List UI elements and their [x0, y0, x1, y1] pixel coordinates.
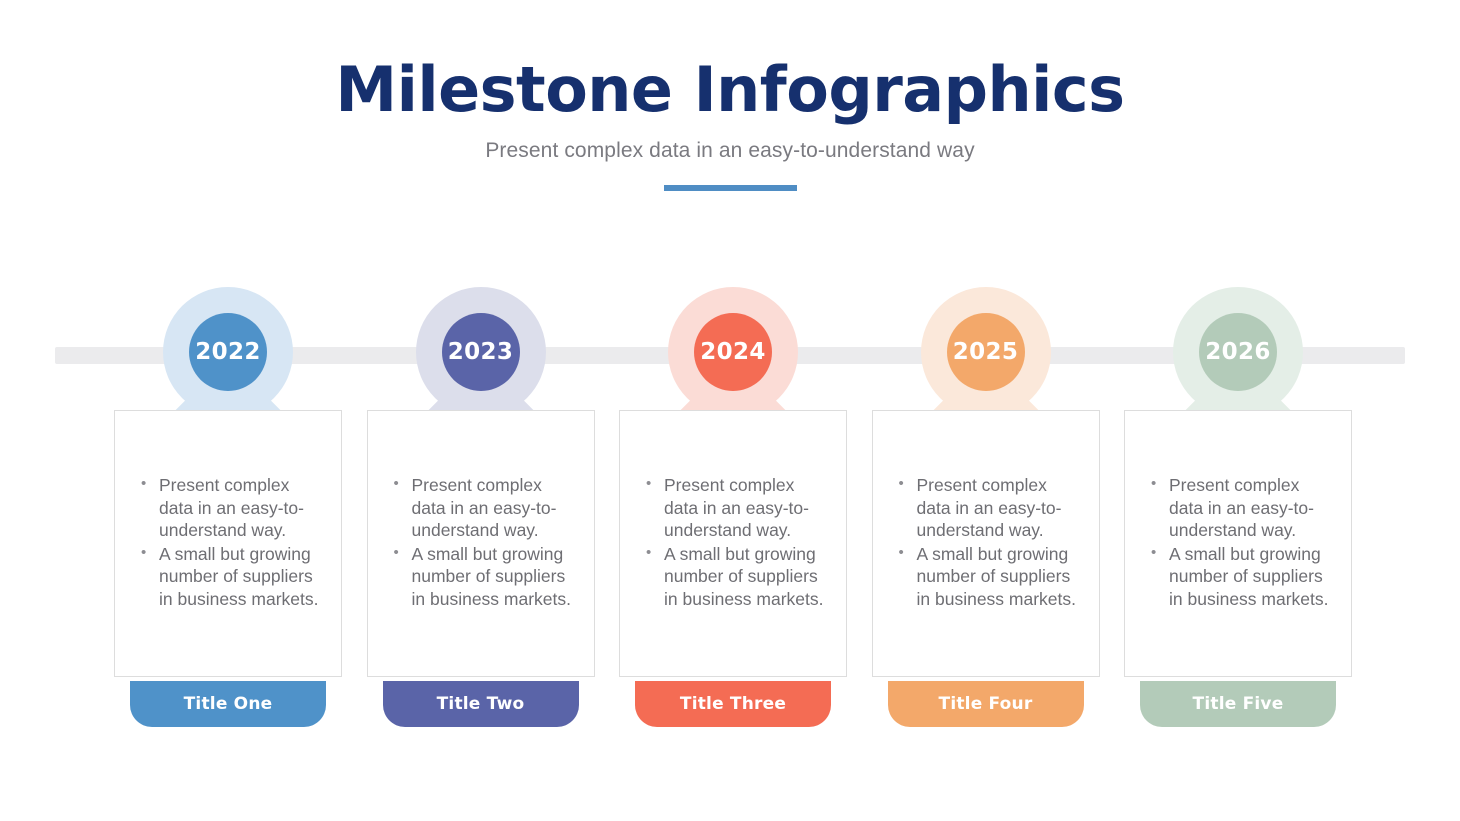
bullet-list: Present complex data in an easy-to-under… — [1125, 411, 1351, 611]
milestone-column-4: 2025Present complex data in an easy-to-u… — [871, 0, 1101, 821]
milestone-year: 2025 — [953, 339, 1019, 365]
milestone-card-1: Present complex data in an easy-to-under… — [114, 410, 342, 677]
bullet-item: Present complex data in an easy-to-under… — [644, 474, 832, 542]
bullet-item: A small but growing number of suppliers … — [139, 543, 327, 611]
bullet-item: Present complex data in an easy-to-under… — [897, 474, 1085, 542]
milestone-title: Title Three — [680, 694, 786, 714]
pin-core[interactable]: 2025 — [947, 313, 1025, 391]
milestone-year: 2023 — [448, 339, 514, 365]
bullet-item: A small but growing number of suppliers … — [644, 543, 832, 611]
milestone-column-1: 2022Present complex data in an easy-to-u… — [113, 0, 343, 821]
milestone-year: 2026 — [1205, 339, 1271, 365]
milestone-title: Title Four — [939, 694, 1033, 714]
milestone-column-5: 2026Present complex data in an easy-to-u… — [1123, 0, 1353, 821]
milestone-card-5: Present complex data in an easy-to-under… — [1124, 410, 1352, 677]
milestone-title: Title Two — [437, 694, 525, 714]
bullet-item: Present complex data in an easy-to-under… — [1149, 474, 1337, 542]
bullet-item: A small but growing number of suppliers … — [897, 543, 1085, 611]
milestone-title-bar-2[interactable]: Title Two — [383, 681, 579, 727]
milestone-card-2: Present complex data in an easy-to-under… — [367, 410, 595, 677]
pin-core[interactable]: 2024 — [694, 313, 772, 391]
milestone-title-bar-5[interactable]: Title Five — [1140, 681, 1336, 727]
bullet-item: Present complex data in an easy-to-under… — [392, 474, 580, 542]
bullet-item: A small but growing number of suppliers … — [392, 543, 580, 611]
bullet-item: Present complex data in an easy-to-under… — [139, 474, 327, 542]
milestone-year: 2022 — [195, 339, 261, 365]
milestone-title: Title Five — [1193, 694, 1284, 714]
bullet-list: Present complex data in an easy-to-under… — [368, 411, 594, 611]
milestone-year: 2024 — [700, 339, 766, 365]
milestone-card-3: Present complex data in an easy-to-under… — [619, 410, 847, 677]
milestone-title-bar-3[interactable]: Title Three — [635, 681, 831, 727]
milestone-title-bar-4[interactable]: Title Four — [888, 681, 1084, 727]
milestone-column-2: 2023Present complex data in an easy-to-u… — [366, 0, 596, 821]
milestone-list: 2022Present complex data in an easy-to-u… — [0, 0, 1460, 821]
pin-core[interactable]: 2023 — [442, 313, 520, 391]
bullet-item: A small but growing number of suppliers … — [1149, 543, 1337, 611]
milestone-card-4: Present complex data in an easy-to-under… — [872, 410, 1100, 677]
bullet-list: Present complex data in an easy-to-under… — [620, 411, 846, 611]
milestone-column-3: 2024Present complex data in an easy-to-u… — [618, 0, 848, 821]
pin-core[interactable]: 2022 — [189, 313, 267, 391]
bullet-list: Present complex data in an easy-to-under… — [873, 411, 1099, 611]
pin-core[interactable]: 2026 — [1199, 313, 1277, 391]
milestone-title: Title One — [184, 694, 273, 714]
milestone-title-bar-1[interactable]: Title One — [130, 681, 326, 727]
bullet-list: Present complex data in an easy-to-under… — [115, 411, 341, 611]
